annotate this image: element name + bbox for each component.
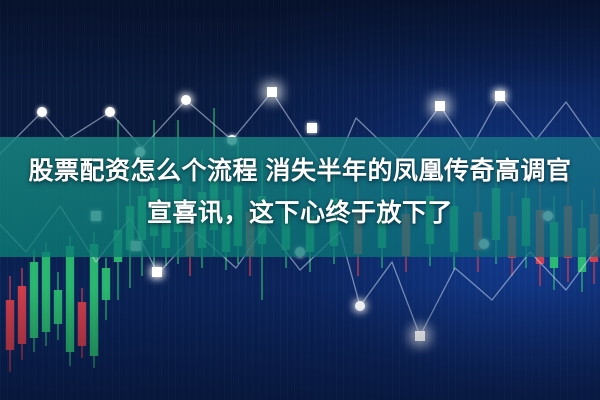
headline-line-1: 股票配资怎么个流程 消失半年的凤凰传奇高调官 xyxy=(0,150,600,192)
headline-text: 股票配资怎么个流程 消失半年的凤凰传奇高调官 宣喜讯，这下心终于放下了 xyxy=(0,150,600,234)
headline-line-2: 宣喜讯，这下心终于放下了 xyxy=(0,192,600,234)
banner-image: 股票配资怎么个流程 消失半年的凤凰传奇高调官 宣喜讯，这下心终于放下了 xyxy=(0,0,600,400)
